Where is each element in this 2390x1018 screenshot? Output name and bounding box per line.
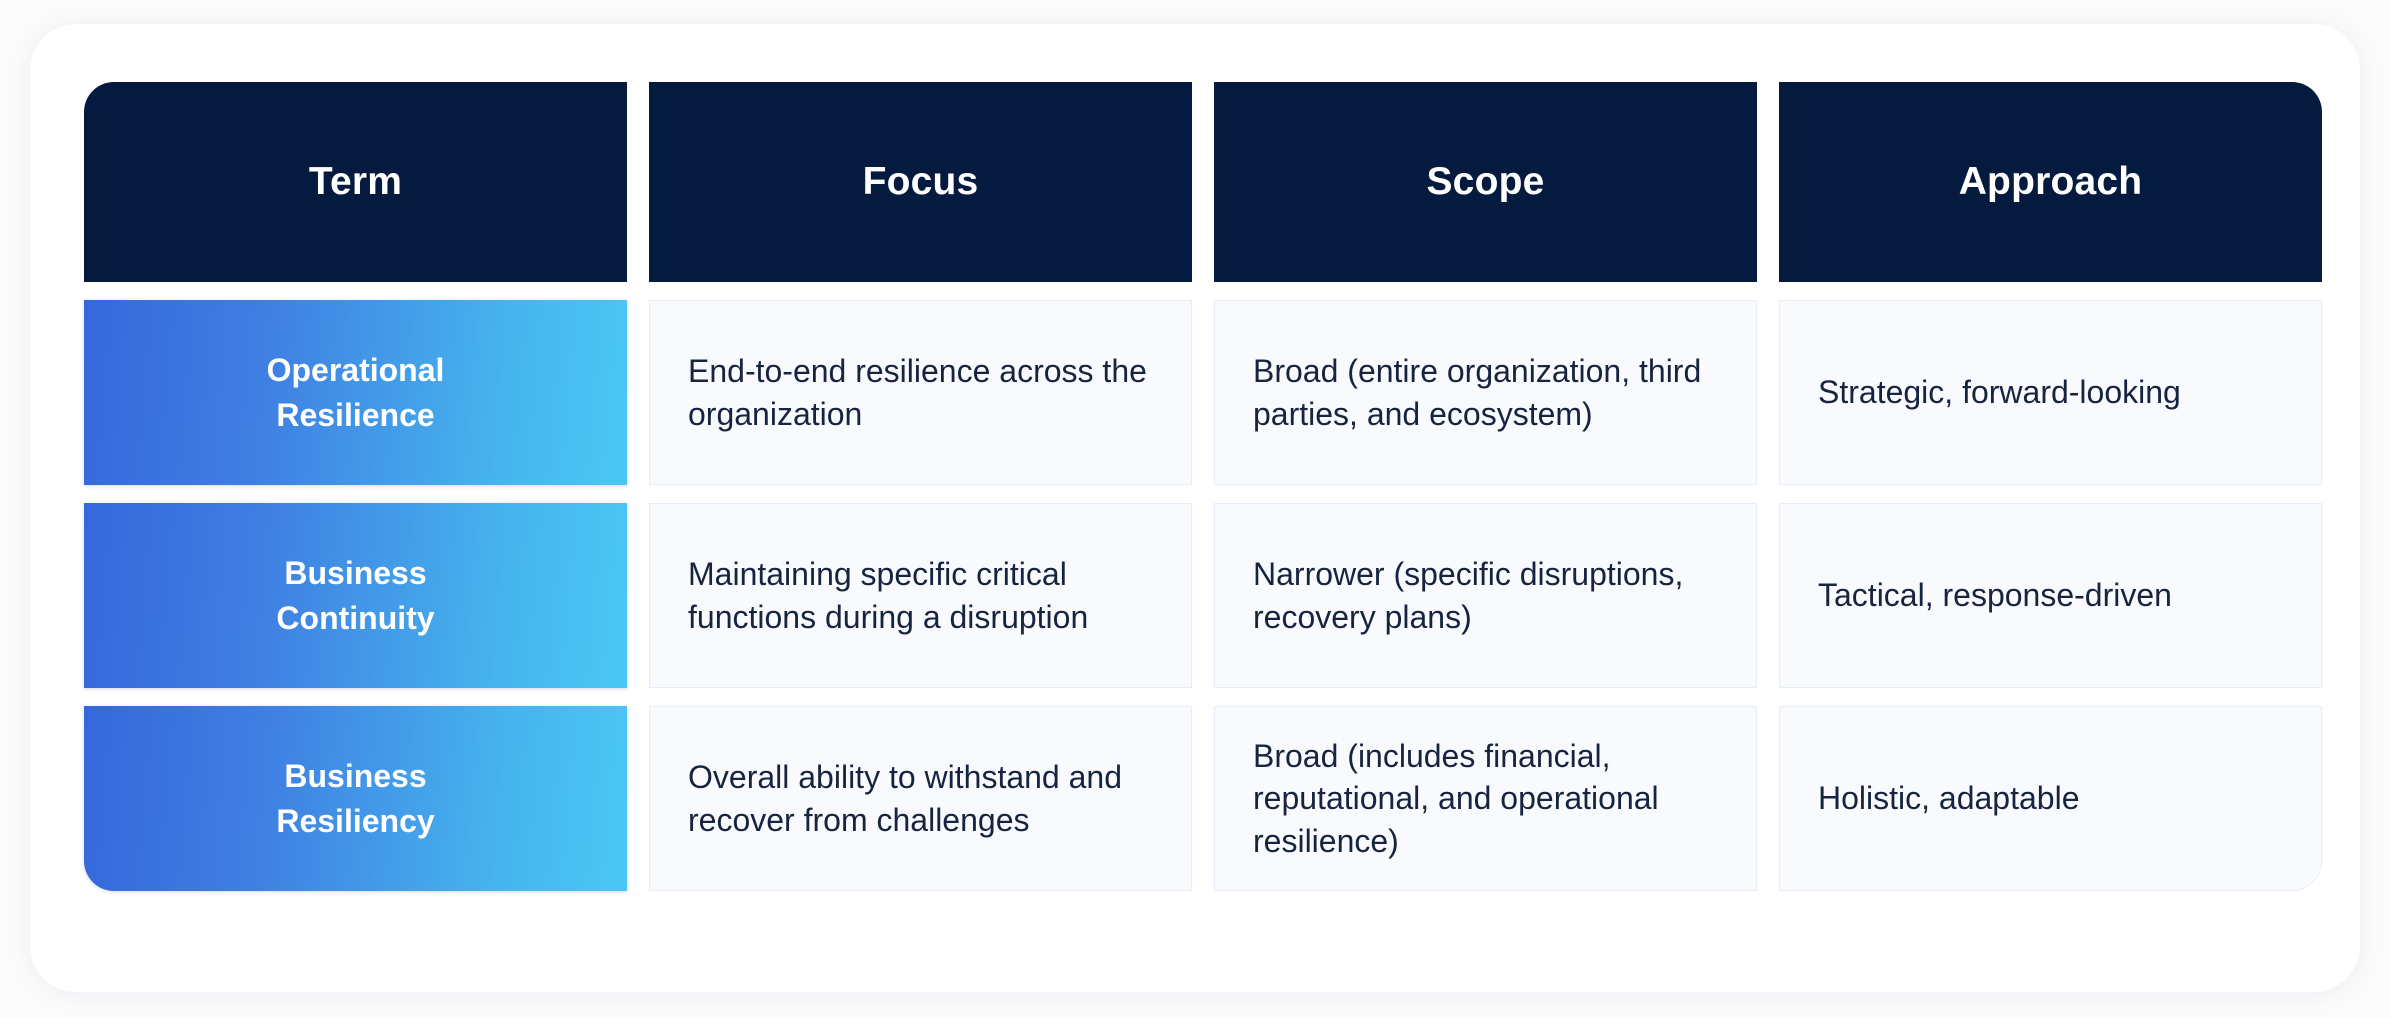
table-body: OperationalResilience End-to-end resilie… <box>84 300 2366 891</box>
table-row: OperationalResilience End-to-end resilie… <box>84 300 2366 485</box>
cell-focus: Maintaining specific critical functions … <box>649 503 1192 688</box>
comparison-table-card: Term Focus Scope Approach OperationalRes… <box>30 24 2360 992</box>
cell-approach: Tactical, response-driven <box>1779 503 2322 688</box>
column-header-focus: Focus <box>649 82 1192 282</box>
column-header-approach: Approach <box>1779 82 2322 282</box>
cell-term: BusinessContinuity <box>84 503 627 688</box>
column-header-term-label: Term <box>309 160 402 204</box>
cell-approach: Strategic, forward-looking <box>1779 300 2322 485</box>
page-root: Term Focus Scope Approach OperationalRes… <box>0 0 2390 1018</box>
column-header-term: Term <box>84 82 627 282</box>
table-header-row: Term Focus Scope Approach <box>84 82 2366 282</box>
column-header-focus-label: Focus <box>863 160 979 204</box>
cell-focus: End-to-end resilience across the organiz… <box>649 300 1192 485</box>
cell-approach: Holistic, adaptable <box>1779 706 2322 891</box>
comparison-table: Term Focus Scope Approach OperationalRes… <box>84 82 2366 891</box>
table-row: BusinessContinuity Maintaining specific … <box>84 503 2366 688</box>
column-header-scope: Scope <box>1214 82 1757 282</box>
column-header-scope-label: Scope <box>1426 160 1544 204</box>
cell-scope: Broad (includes financial, reputational,… <box>1214 706 1757 891</box>
column-header-approach-label: Approach <box>1959 160 2143 204</box>
cell-term: OperationalResilience <box>84 300 627 485</box>
cell-scope: Broad (entire organization, third partie… <box>1214 300 1757 485</box>
cell-focus: Overall ability to withstand and recover… <box>649 706 1192 891</box>
table-row: BusinessResiliency Overall ability to wi… <box>84 706 2366 891</box>
cell-term: BusinessResiliency <box>84 706 627 891</box>
cell-scope: Narrower (specific disruptions, recovery… <box>1214 503 1757 688</box>
